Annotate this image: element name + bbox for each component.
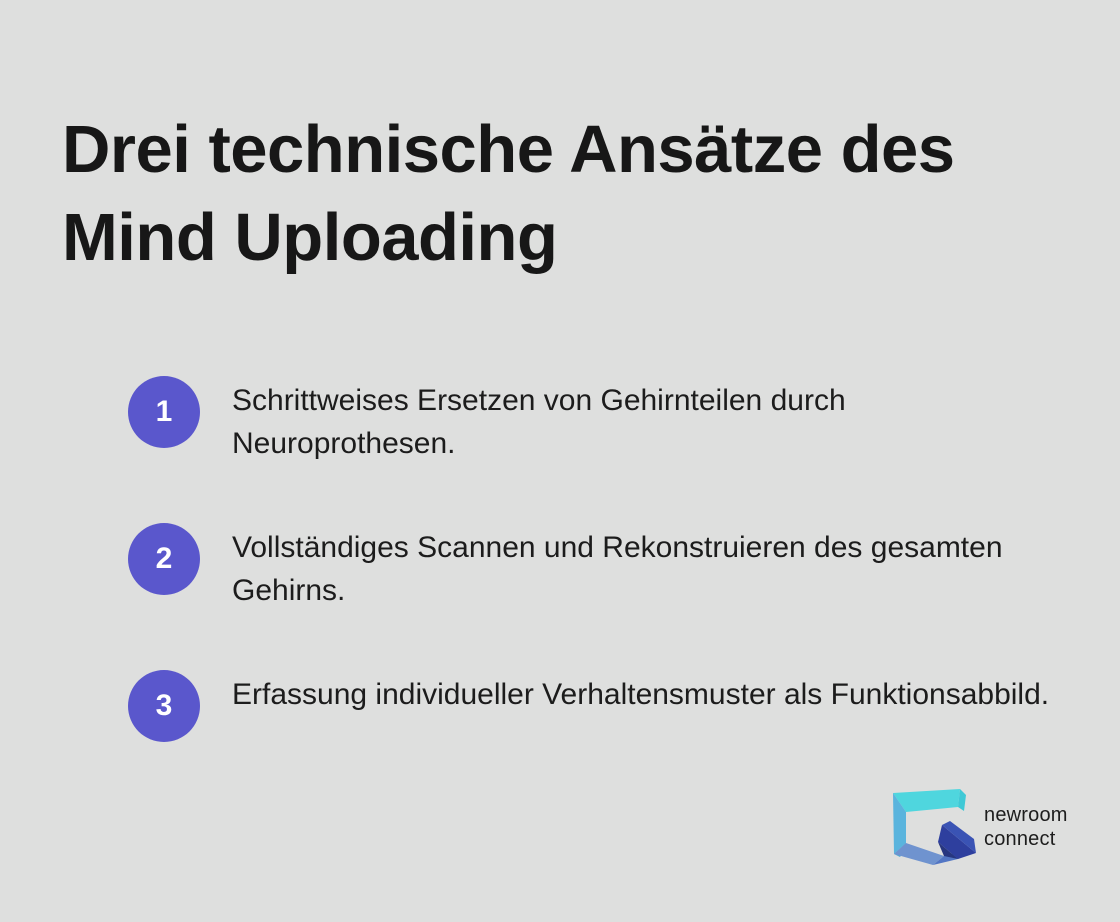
page-title: Drei technische Ansätze des Mind Uploadi… [62,106,1012,282]
list-item: 1 Schrittweises Ersetzen von Gehirnteile… [128,374,1058,465]
list-number-badge: 2 [128,523,200,595]
list-number-badge: 3 [128,670,200,742]
numbered-list: 1 Schrittweises Ersetzen von Gehirnteile… [128,374,1058,742]
list-item-text: Vollständiges Scannen und Rekonstruieren… [200,521,1058,612]
list-item: 3 Erfassung individueller Verhaltensmust… [128,668,1058,742]
brand-wordmark: newroom connect [984,803,1068,851]
newroom-connect-logo-mark-icon [888,787,980,867]
list-number-badge: 1 [128,376,200,448]
brand-logo: newroom connect [888,786,1060,868]
list-item: 2 Vollständiges Scannen und Rekonstruier… [128,521,1058,612]
list-item-text: Erfassung individueller Verhaltensmuster… [200,668,1058,716]
slide-root: Drei technische Ansätze des Mind Uploadi… [0,0,1120,922]
list-item-text: Schrittweises Ersetzen von Gehirnteilen … [200,374,1058,465]
